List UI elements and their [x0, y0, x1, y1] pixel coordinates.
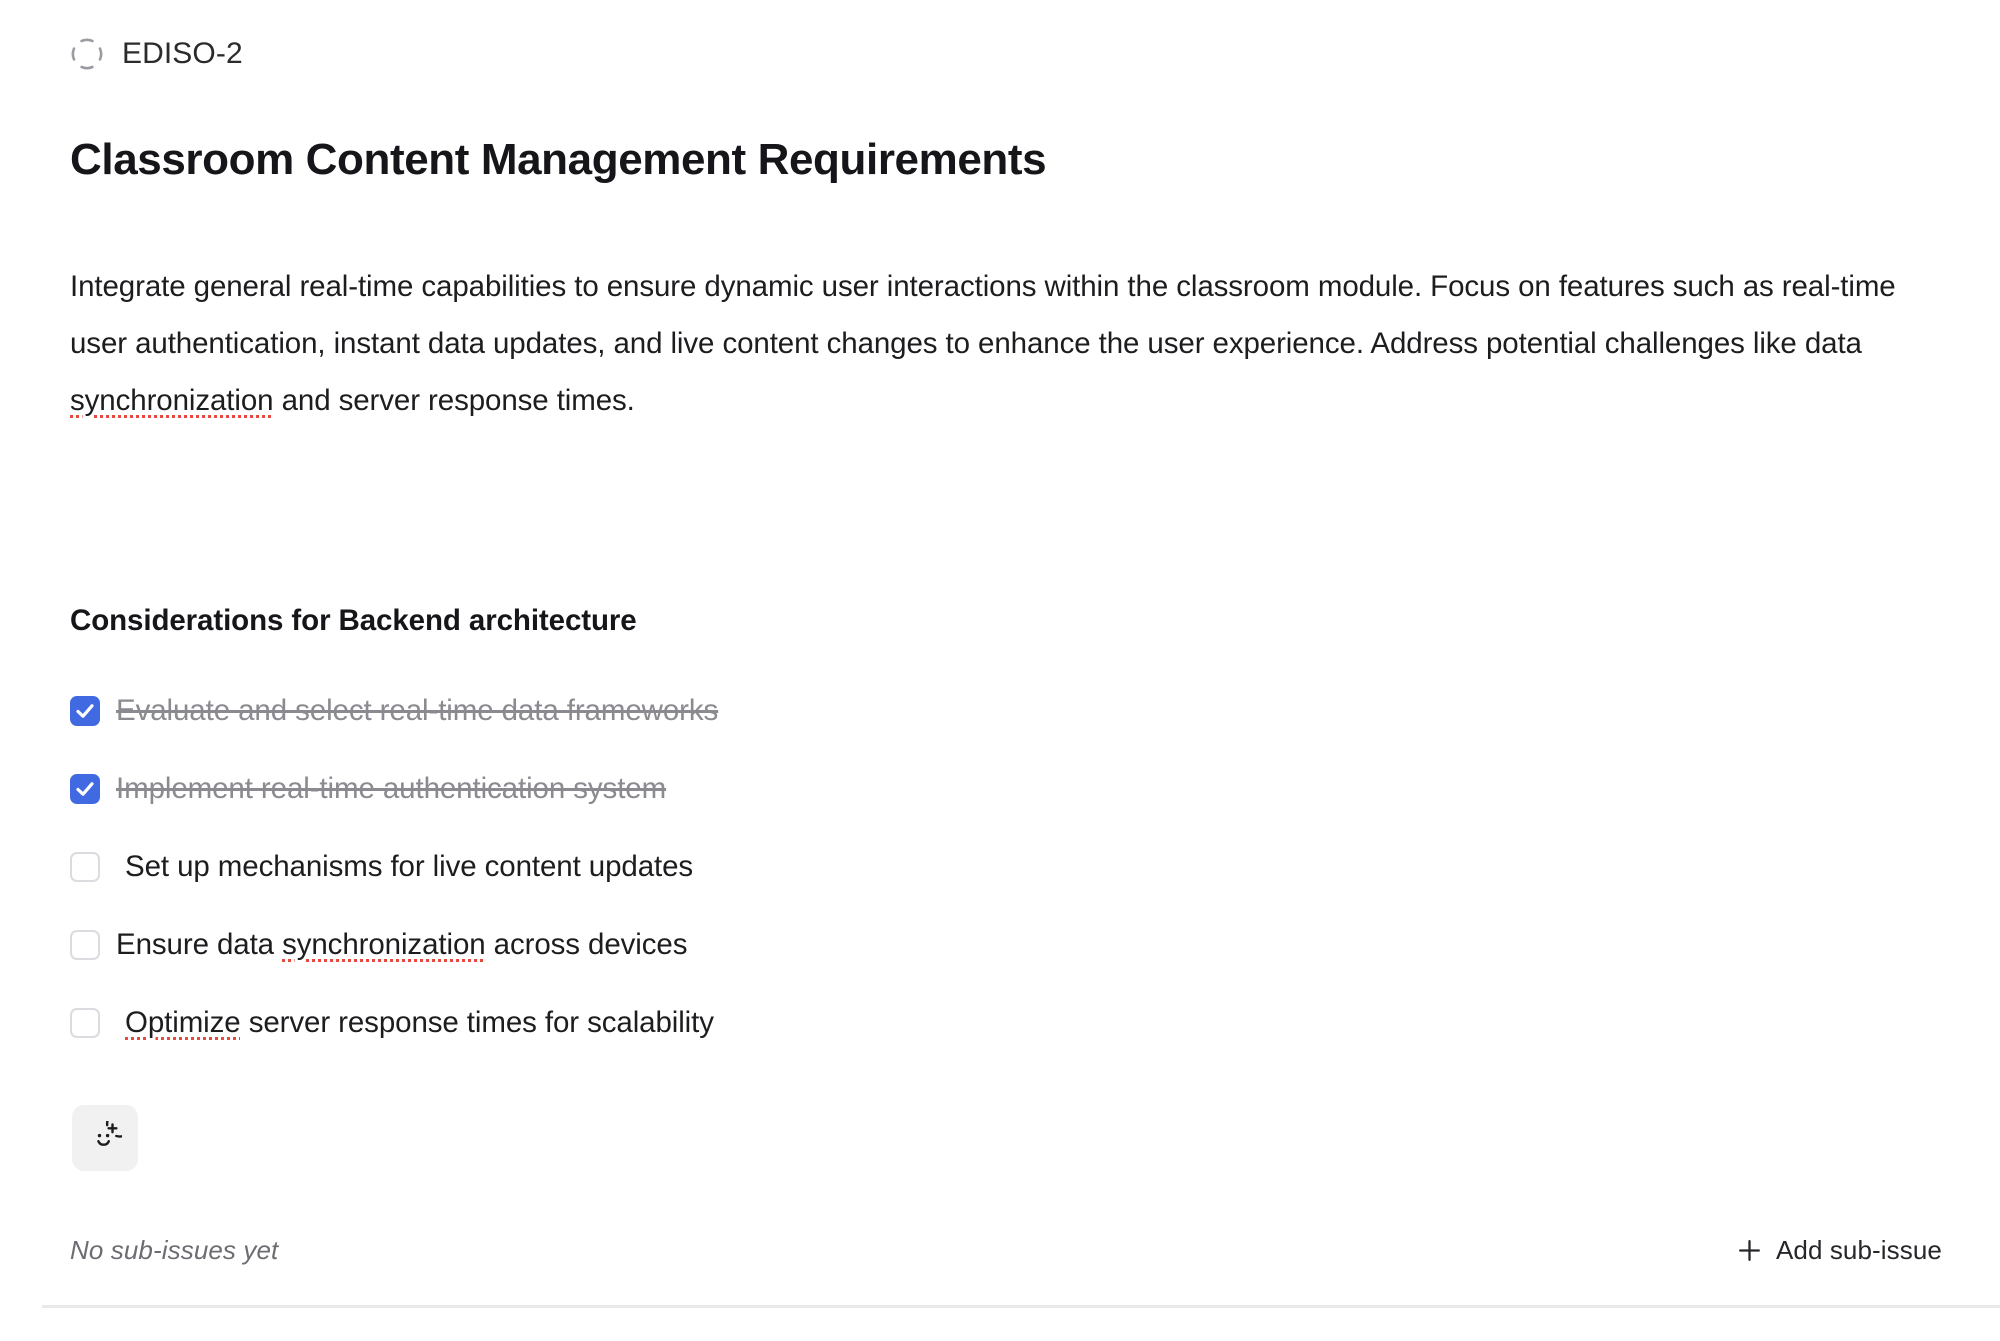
checkbox-checked-icon[interactable] — [70, 774, 100, 804]
checklist-item-label: Evaluate and select real-time data frame… — [116, 692, 718, 730]
checklist-item-label: Ensure data synchronization across devic… — [116, 926, 687, 964]
plus-icon — [1737, 1238, 1762, 1263]
checkbox-checked-icon[interactable] — [70, 696, 100, 726]
spellcheck-word-optimize: Optimize — [125, 1006, 241, 1039]
checklist-item-label: Optimize server response times for scala… — [116, 1004, 714, 1042]
smiley-plus-icon — [88, 1121, 122, 1155]
add-sub-issue-label: Add sub-issue — [1776, 1233, 1942, 1267]
checklist-item[interactable]: Ensure data synchronization across devic… — [70, 906, 1670, 984]
spellcheck-word-synchronization: synchronization — [282, 928, 485, 961]
checklist-heading: Considerations for Backend architecture — [70, 602, 637, 640]
sub-issues-empty-label: No sub-issues yet — [70, 1233, 278, 1267]
issue-detail-page: EDISO-2 Classroom Content Management Req… — [0, 0, 2000, 1341]
spellcheck-word-synchronization: synchronization — [70, 384, 273, 417]
checklist: Evaluate and select real-time data frame… — [70, 672, 1670, 1062]
checklist-item-label: Implement real-time authentication syste… — [116, 770, 666, 808]
sub-issues-footer: No sub-issues yet Add sub-issue — [70, 1228, 1942, 1272]
checkbox-unchecked-icon[interactable] — [70, 930, 100, 960]
description-text-part-2: and server response times. — [273, 384, 634, 417]
checkbox-unchecked-icon[interactable] — [70, 852, 100, 882]
checklist-item-text-pre: Ensure data — [116, 928, 282, 961]
checkbox-unchecked-icon[interactable] — [70, 1008, 100, 1038]
page-title[interactable]: Classroom Content Management Requirement… — [70, 133, 1046, 187]
issue-identifier[interactable]: EDISO-2 — [122, 37, 243, 71]
description-text-part-1: Integrate general real-time capabilities… — [70, 270, 1896, 360]
add-reaction-button[interactable] — [72, 1105, 138, 1171]
checklist-item-label: Set up mechanisms for live content updat… — [116, 848, 693, 886]
issue-description[interactable]: Integrate general real-time capabilities… — [70, 258, 1945, 429]
checklist-item[interactable]: Set up mechanisms for live content updat… — [70, 828, 1670, 906]
section-divider — [42, 1305, 2000, 1308]
checklist-item[interactable]: Implement real-time authentication syste… — [70, 750, 1670, 828]
checklist-item-text-post: server response times for scalability — [241, 1006, 714, 1039]
breadcrumb: EDISO-2 — [70, 32, 243, 76]
add-sub-issue-button[interactable]: Add sub-issue — [1737, 1233, 1942, 1267]
checklist-item[interactable]: Evaluate and select real-time data frame… — [70, 672, 1670, 750]
backlog-status-icon[interactable] — [70, 37, 104, 71]
checklist-item-text-post: across devices — [486, 928, 688, 961]
checklist-item[interactable]: Optimize server response times for scala… — [70, 984, 1670, 1062]
